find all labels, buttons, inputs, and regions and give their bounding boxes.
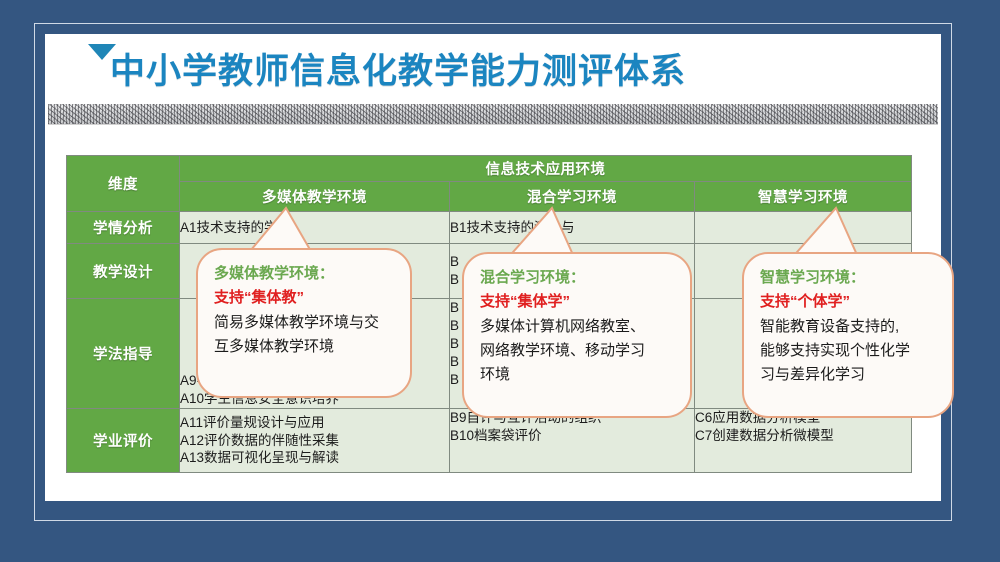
callout-line: 互多媒体教学环境 — [214, 335, 394, 359]
callout-line: 简易多媒体教学环境与交 — [214, 311, 394, 335]
slide-stage: 中小学教师信息化教学能力测评体系 维度 信息技术应用环境 多媒体教学环境 混合学… — [0, 0, 1000, 562]
callout-blended: 混合学习环境： 支持“集体学” 多媒体计算机网络教室、 网络教学环境、移动学习 … — [462, 252, 692, 418]
callout-emphasis: 支持“集体教” — [214, 286, 394, 310]
callout-heading: 混合学习环境： — [480, 266, 674, 290]
callout-emphasis: 支持“个体学” — [760, 290, 936, 314]
callout-line: 环境 — [480, 363, 674, 387]
callout-line: 习与差异化学习 — [760, 363, 936, 387]
callout-line: 能够支持实现个性化学 — [760, 339, 936, 363]
callout-line: 智能教育设备支持的, — [760, 315, 936, 339]
callout-line: 多媒体计算机网络教室、 — [480, 315, 674, 339]
callout-heading: 多媒体教学环境： — [214, 262, 394, 286]
callout-line: 网络教学环境、移动学习 — [480, 339, 674, 363]
callout-emphasis: 支持“集体学” — [480, 290, 674, 314]
callout-smart: 智慧学习环境： 支持“个体学” 智能教育设备支持的, 能够支持实现个性化学 习与… — [742, 252, 954, 418]
callout-heading: 智慧学习环境： — [760, 266, 936, 290]
callout-multimedia: 多媒体教学环境： 支持“集体教” 简易多媒体教学环境与交 互多媒体教学环境 — [196, 248, 412, 398]
